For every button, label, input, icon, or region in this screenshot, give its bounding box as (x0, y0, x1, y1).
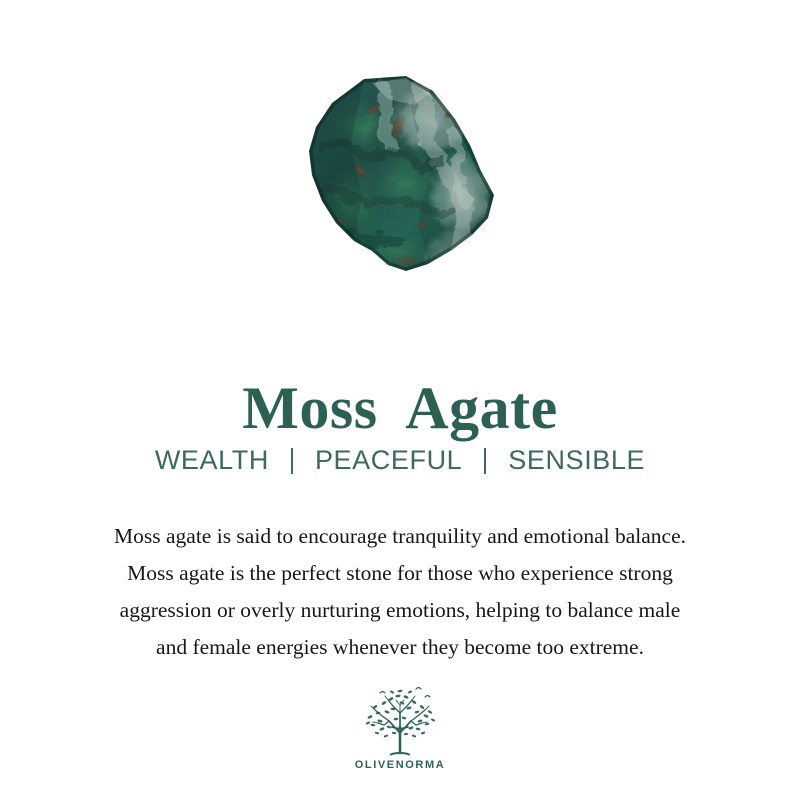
keyword-sensible: SENSIBLE (508, 444, 645, 476)
keyword-separator (291, 448, 293, 474)
keyword-peaceful: PEACEFUL (315, 444, 462, 476)
brand-logo: OLIVENORMA (0, 683, 800, 771)
keyword-wealth: WEALTH (155, 444, 269, 476)
description-line: Moss agate is the perfect stone for thos… (40, 555, 760, 592)
brand-name: OLIVENORMA (355, 759, 446, 771)
page-title: Moss Agate (0, 377, 800, 440)
product-info-card: Moss Agate WEALTH PEACEFUL SENSIBLE Moss… (0, 0, 800, 800)
keyword-separator (484, 448, 486, 474)
moss-agate-stone-icon (302, 75, 498, 275)
description-line: and female energies whenever they become… (40, 629, 760, 666)
olive-tree-icon (356, 683, 444, 757)
description-text: Moss agate is said to encourage tranquil… (40, 518, 760, 666)
keyword-list: WEALTH PEACEFUL SENSIBLE (0, 444, 800, 476)
description-line: aggression or overly nurturing emotions,… (40, 592, 760, 629)
description-line: Moss agate is said to encourage tranquil… (40, 518, 760, 555)
hero-image-container (0, 70, 800, 280)
